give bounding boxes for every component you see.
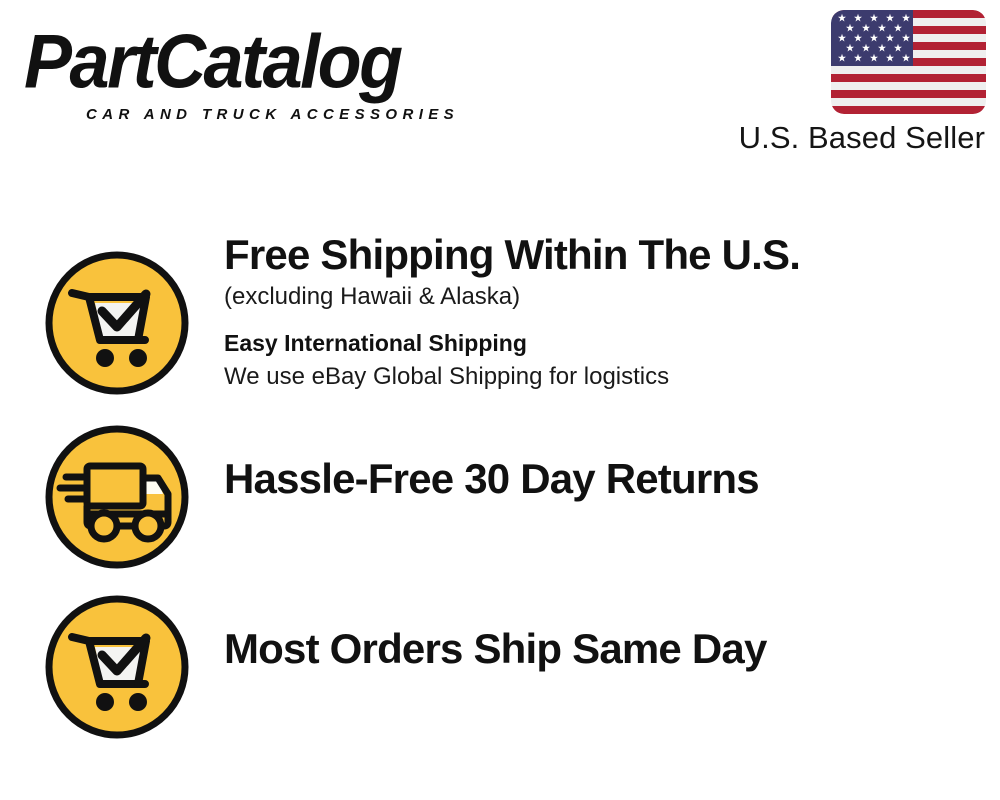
brand-logo: PartCatalog CAR AND TRUCK ACCESSORIES: [24, 22, 494, 117]
benefit-row: Hassle-Free 30 Day Returns: [0, 412, 1000, 572]
benefit-text-block: Free Shipping Within The U.S. (excluding…: [224, 230, 1000, 393]
brand-tagline: CAR AND TRUCK ACCESSORIES: [86, 106, 459, 123]
seller-banner: PartCatalog CAR AND TRUCK ACCESSORIES: [0, 0, 1000, 800]
us-flag-icon: [831, 10, 986, 114]
benefit-title: Hassle-Free 30 Day Returns: [224, 454, 1000, 504]
us-based-seller-label: U.S. Based Seller: [739, 120, 985, 156]
benefit-title: Most Orders Ship Same Day: [224, 624, 1000, 674]
banner-header: PartCatalog CAR AND TRUCK ACCESSORIES: [0, 0, 1000, 170]
shopping-cart-check-icon: [42, 592, 192, 742]
benefit-subtitle-light: We use eBay Global Shipping for logistic…: [224, 360, 1000, 393]
shopping-cart-check-icon: [42, 248, 192, 398]
delivery-truck-icon: [42, 422, 192, 572]
benefit-subtitle-strong: Easy International Shipping: [224, 326, 1000, 360]
brand-wordmark: PartCatalog: [24, 22, 494, 103]
benefit-text-block: Most Orders Ship Same Day: [224, 582, 1000, 674]
benefit-subtitle: (excluding Hawaii & Alaska): [224, 280, 1000, 314]
benefit-row: Free Shipping Within The U.S. (excluding…: [0, 230, 1000, 408]
benefit-title: Free Shipping Within The U.S.: [224, 230, 1000, 280]
benefit-row: Most Orders Ship Same Day: [0, 582, 1000, 742]
benefit-text-block: Hassle-Free 30 Day Returns: [224, 412, 1000, 504]
